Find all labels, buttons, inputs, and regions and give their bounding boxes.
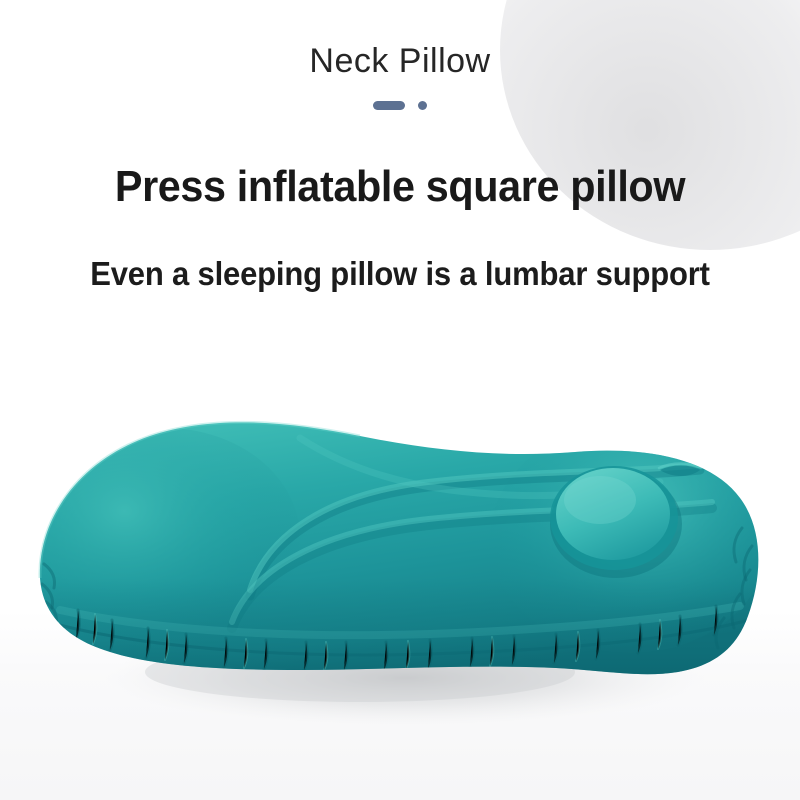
pillow-body [0, 378, 800, 688]
headline: Press inflatable square pillow [24, 110, 776, 213]
copy-block: Neck Pillow Press inflatable square pill… [0, 0, 800, 294]
product-marketing-page: Neck Pillow Press inflatable square pill… [0, 0, 800, 800]
pagination-dot-inactive[interactable] [418, 101, 427, 110]
pump-button-sheen [564, 476, 636, 524]
carousel-pagination[interactable] [0, 101, 800, 110]
subheadline: Even a sleeping pillow is a lumbar suppo… [24, 212, 776, 294]
pillow-illustration [0, 378, 800, 800]
pagination-dot-active[interactable] [373, 101, 405, 110]
page-title: Neck Pillow [0, 0, 800, 83]
product-image [0, 378, 800, 800]
